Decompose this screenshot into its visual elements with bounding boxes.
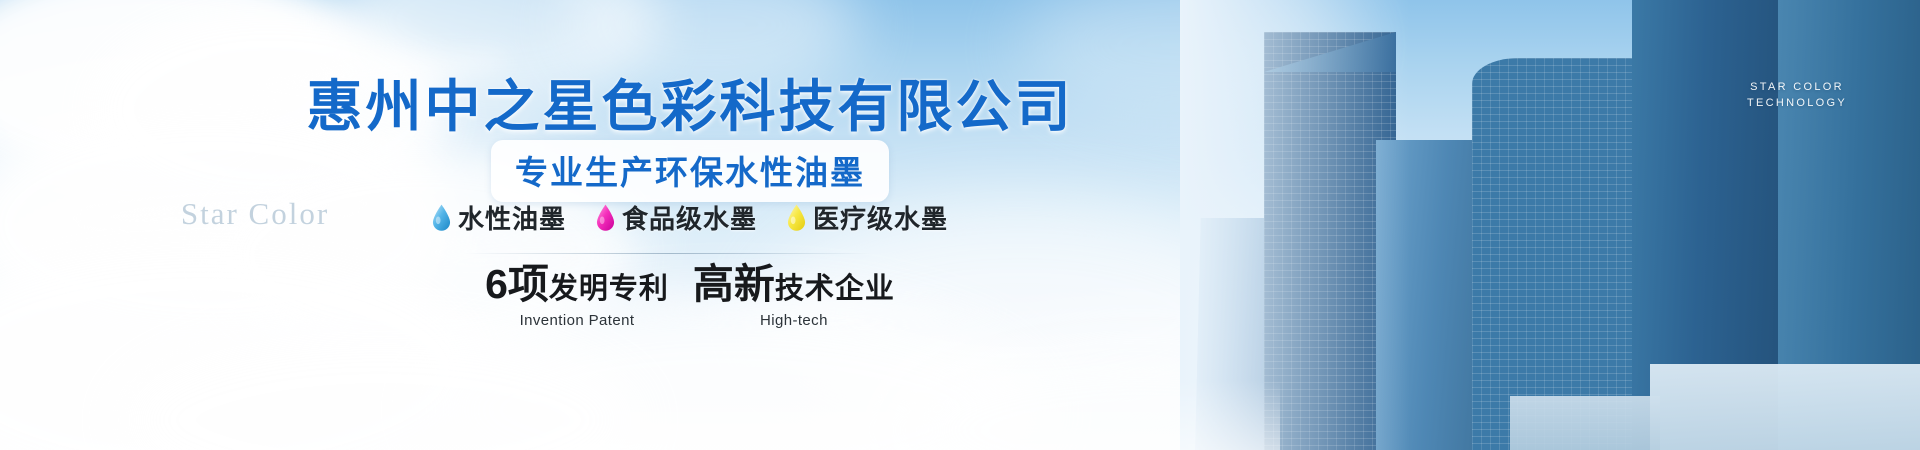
badge-english: High-tech	[693, 312, 895, 329]
building-podium	[1650, 364, 1920, 450]
badge-item: 6项发明专利 Invention Patent	[485, 264, 669, 329]
badge-chinese: 高新技术企业	[693, 264, 895, 305]
section-divider	[465, 253, 873, 254]
corner-brand-line2: TECHNOLOGY	[1747, 96, 1847, 112]
company-title-text: 惠州中之星色彩科技有限公司	[307, 62, 1074, 143]
badge-list: 6项发明专利 Invention Patent 高新技术企业 High-tech	[0, 264, 1380, 329]
feature-label: 水性油墨	[458, 199, 566, 236]
building	[1472, 58, 1640, 450]
water-drop-icon	[787, 204, 806, 231]
feature-label: 医疗级水墨	[813, 199, 948, 236]
water-drop-icon	[596, 204, 615, 231]
corner-brand-line1: STAR COLOR	[1747, 80, 1847, 96]
badge-text: 发明专利	[549, 273, 669, 305]
feature-item: 医疗级水墨	[787, 199, 948, 236]
company-title: 惠州中之星色彩科技有限公司	[0, 62, 1380, 143]
corner-brand-mark: STAR COLOR TECHNOLOGY	[1747, 80, 1847, 112]
promo-banner: STAR COLOR TECHNOLOGY Star Color 惠州中之星色彩…	[0, 0, 1920, 450]
badge-english: Invention Patent	[485, 312, 669, 329]
badge-number: 高新	[693, 261, 775, 307]
building-podium	[1510, 396, 1660, 450]
badge-text: 技术企业	[775, 273, 895, 305]
subtitle-pill-wrap: 专业生产环保水性油墨	[0, 140, 1380, 202]
badge-chinese: 6项发明专利	[485, 264, 669, 305]
feature-label: 食品级水墨	[622, 199, 757, 236]
feature-item: 食品级水墨	[596, 199, 757, 236]
banner-content: 惠州中之星色彩科技有限公司 专业生产环保水性油墨	[0, 0, 1380, 450]
badge-number: 6项	[485, 261, 549, 307]
badge-item: 高新技术企业 High-tech	[693, 264, 895, 329]
water-drop-icon	[432, 204, 451, 231]
subtitle-pill: 专业生产环保水性油墨	[491, 140, 889, 202]
feature-list: 水性油墨 食品级水墨	[0, 199, 1380, 236]
feature-item: 水性油墨	[432, 199, 566, 236]
